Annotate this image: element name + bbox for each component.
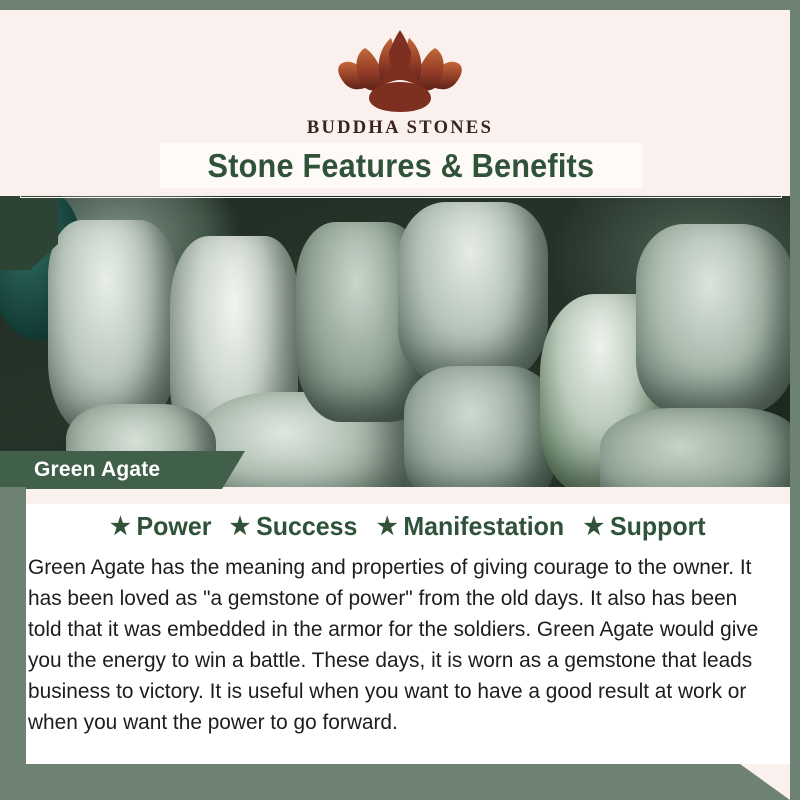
stone-2 bbox=[48, 220, 178, 435]
gemstone-photo bbox=[0, 196, 800, 487]
frame-right-accent bbox=[790, 0, 800, 800]
stone-name: Green Agate bbox=[34, 458, 160, 482]
benefit-label: Success bbox=[256, 511, 357, 542]
stone-name-banner: Green Agate bbox=[0, 451, 245, 489]
stone-7 bbox=[404, 366, 554, 487]
frame-bottom-accent bbox=[0, 764, 800, 800]
stone-9 bbox=[636, 224, 796, 414]
title-plate: Stone Features & Benefits bbox=[160, 143, 642, 188]
stone-6 bbox=[398, 202, 548, 382]
benefit-label: Power bbox=[137, 511, 212, 542]
star-icon: ★ bbox=[110, 515, 131, 539]
page-title: Stone Features & Benefits bbox=[208, 147, 595, 185]
stone-10 bbox=[600, 408, 800, 487]
star-icon: ★ bbox=[583, 515, 604, 539]
frame-left-accent bbox=[0, 487, 26, 800]
benefit-label: Support bbox=[610, 511, 706, 542]
benefit-item-manifestation: ★ Manifestation bbox=[377, 511, 564, 542]
content-panel: ★ Power ★ Success ★ Manifestation ★ Supp… bbox=[26, 504, 790, 764]
benefits-row: ★ Power ★ Success ★ Manifestation ★ Supp… bbox=[26, 504, 790, 542]
frame-top-accent bbox=[0, 0, 800, 10]
benefit-item-power: ★ Power bbox=[110, 511, 211, 542]
stone-benefits-poster: BUDDHA STONES Stone Features & Benefits … bbox=[0, 0, 800, 800]
star-icon: ★ bbox=[229, 515, 250, 539]
benefit-item-success: ★ Success bbox=[229, 511, 357, 542]
star-icon: ★ bbox=[377, 515, 398, 539]
cream-divider bbox=[0, 487, 800, 504]
benefit-label: Manifestation bbox=[403, 511, 564, 542]
benefit-item-support: ★ Support bbox=[583, 511, 705, 542]
stone-description: Green Agate has the meaning and properti… bbox=[28, 552, 767, 738]
